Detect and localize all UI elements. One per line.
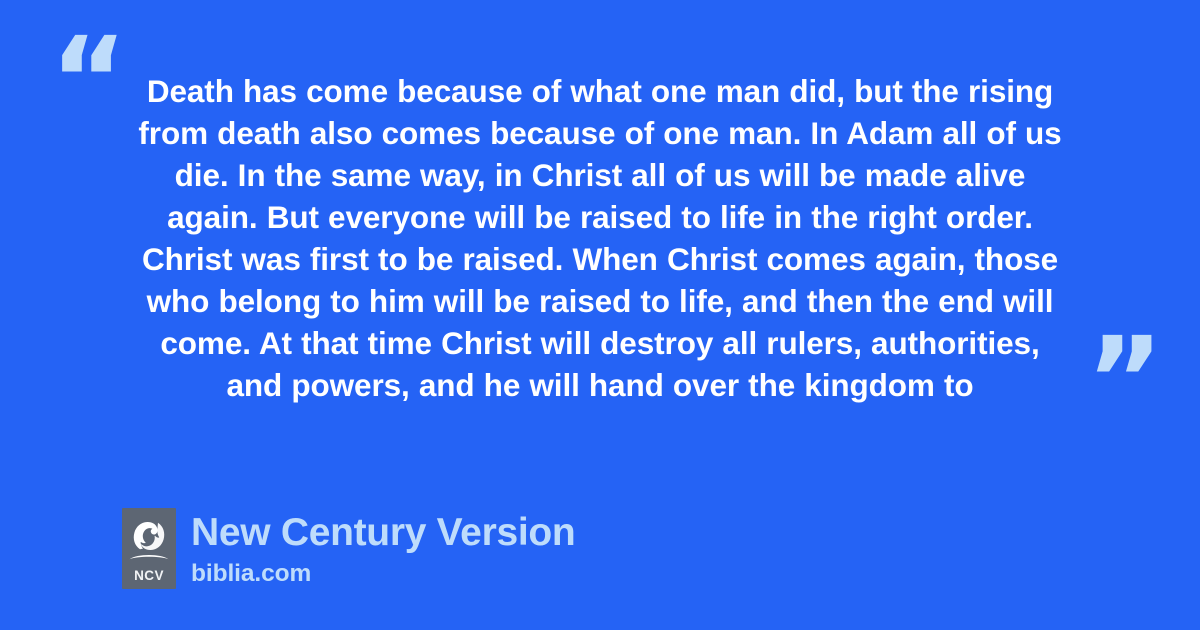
ncv-logo-badge: NCV [122,508,176,589]
attribution: NCV New Century Version biblia.com [122,508,575,589]
swoosh-n-icon [132,521,166,551]
opening-quote-icon: “ [50,21,125,139]
verse-line: again. But everyone will be raised to li… [126,196,1074,238]
logo-abbreviation: NCV [134,569,164,583]
attribution-text: New Century Version biblia.com [191,508,575,589]
bible-version-name: New Century Version [191,510,575,556]
bible-verse-quote-card: “ ” Death has come because of what one m… [0,0,1200,630]
verse-line: from death also comes because of one man… [126,112,1074,154]
verse-text: Death has come because of what one man d… [126,70,1074,406]
site-name[interactable]: biblia.com [191,559,575,589]
verse-line: die. In the same way, in Christ all of u… [126,154,1074,196]
verse-line: Death has come because of what one man d… [126,70,1074,112]
closing-quote-icon: ” [1086,321,1161,439]
arc-icon [129,552,169,560]
verse-line: and powers, and he will hand over the ki… [126,364,1074,406]
verse-line: who belong to him will be raised to life… [126,280,1074,322]
verse-line: come. At that time Christ will destroy a… [126,322,1074,364]
verse-line: Christ was first to be raised. When Chri… [126,238,1074,280]
